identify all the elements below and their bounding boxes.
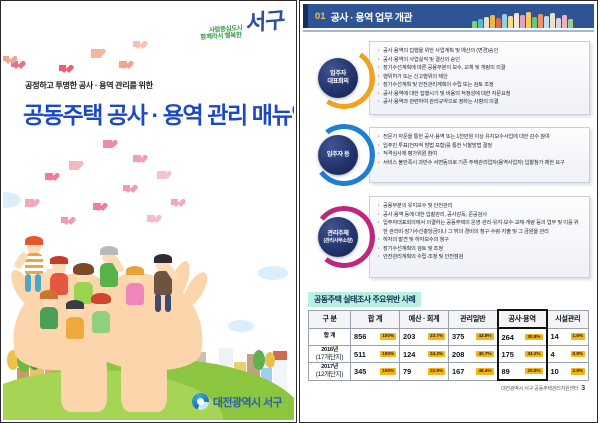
document-spread: 사람중심도시 서구 함께라서 행복한 — [0, 0, 600, 423]
cell-pct: 34.2% — [525, 351, 542, 358]
list-item: 전문가 자문을 통한 공사·용역 또는 1천만원 이상 유지보수사업에 대한 감… — [378, 133, 582, 142]
cover-footer-text: 대전광역시 서구 — [213, 394, 282, 410]
role-badge: 관리주체 (관리사무소장) — [318, 217, 358, 257]
list-item: 서비스 불만족시 과반수 서면동의로 기존 주택관리업자(용역사업자) 입찰참가… — [378, 159, 582, 168]
header-rule — [303, 30, 594, 32]
role-block-gwanlijuche: 관리주체 (관리사무소장) 공용부분의 유지보수 및 안전관리 공사·용역 등에… — [307, 193, 590, 281]
cell-pct: 24.3% — [428, 351, 445, 358]
stats-title: 공동주택 실태조사 주요위반 사례 — [308, 292, 421, 307]
role-item-list: 전문가 자문을 통한 공사·용역 또는 1천만원 이상 유지보수사업에 대한 감… — [378, 133, 582, 167]
list-item: 입주민 투표(전자적 방법 포함)를 통한 낙찰방법 결정 — [378, 142, 582, 151]
role-detail-panel: 공사·용역의 집행을 위한 사업계획 및 예산의 (변경)승인 공사·용역의 사… — [369, 41, 590, 115]
row-label-sub: (12개단지) — [316, 371, 343, 378]
cell-value: 375 — [452, 332, 464, 341]
slide-page: 01 공사 · 용역 업무 개관 — [299, 0, 598, 423]
cell-value: 856 — [354, 332, 366, 341]
badge-wrap: 관리주체 (관리사무소장) — [307, 193, 369, 281]
cover-page: 사람중심도시 서구 함께라서 행복한 — [0, 0, 297, 423]
badge-label-sub: (관리사무소장) — [324, 238, 353, 245]
list-item: 행위허가 또는 신고행위의 제안 — [378, 73, 582, 82]
col-header-total: 합 계 — [351, 310, 400, 328]
slide-content: 01 공사 · 용역 업무 개관 — [303, 4, 594, 419]
cell-pct: 1.6% — [571, 333, 585, 340]
badge-wrap: 입주자 대표회의 — [307, 39, 369, 117]
role-badge: 입주자 대표회의 — [318, 58, 358, 98]
col-header-facility: 시설관리 — [547, 310, 589, 328]
col-header-gubun: 구 분 — [309, 310, 351, 328]
row-label: 합 계 — [309, 333, 350, 340]
cover-footer-logo: 대전광역시 서구 — [192, 393, 282, 410]
cell-value: 14 — [551, 332, 559, 341]
list-item: 장기수선계획에 따른 공용부분의 보수, 교체 및 개량의 의결 — [378, 64, 582, 73]
list-item: 적격심사제 평가위원 참여 — [378, 150, 582, 159]
badge-wrap: 입주자 등 — [307, 124, 369, 186]
cell-pct: 100% — [380, 368, 396, 375]
badge-label-line1: 입주자 등 — [327, 151, 350, 159]
slide-header: 01 공사 · 용역 업무 개관 — [303, 4, 594, 28]
role-item-list: 공용부분의 유지보수 및 안전관리 공사·용역 등에 대한 입찰관리, 공사감독… — [378, 202, 582, 262]
list-item: 안전관리계획의 수립·조정 및 안전점검 — [378, 253, 582, 262]
cell-pct: 100% — [380, 333, 396, 340]
col-header-budget: 예산 · 회계 — [400, 310, 449, 328]
stats-section: 공동주택 실태조사 주요위반 사례 구 분 합 계 예산 · 회계 관리일반 공… — [308, 289, 589, 392]
cell-value: 79 — [403, 367, 411, 376]
cell-value: 124 — [403, 350, 415, 359]
seogu-brand-logo: 사람중심도시 서구 함께라서 행복한 — [180, 11, 284, 55]
cover-title: 공동주택 공사 · 용역 관리 매뉴얼 — [23, 96, 294, 130]
role-detail-panel: 공용부분의 유지보수 및 안전관리 공사·용역 등에 대한 입찰관리, 공사감독… — [369, 196, 590, 278]
table-row: 2017년(12개단지) 345100% 7922.9% 16748.4% 89… — [309, 363, 589, 381]
role-item-list: 공사·용역의 집행을 위한 사업계획 및 예산의 (변경)승인 공사·용역의 사… — [378, 47, 582, 107]
role-block-ijuja-daepyo: 입주자 대표회의 공사·용역의 집행을 위한 사업계획 및 예산의 (변경)승인… — [307, 39, 590, 117]
list-item: 장기수선계획의 검토 및 조정 — [378, 245, 582, 254]
list-item: 공사·용역과 관련하여 관리규약으로 정하는 사항의 의결 — [378, 98, 582, 107]
list-item: 장기수선계획 및 안전관리계획의 수립 또는 검토 조정 — [378, 81, 582, 90]
brand-tagline-second: 함께라서 행복한 — [180, 32, 262, 43]
slide-page-number: 3 — [581, 385, 585, 392]
row-label-sub: (17개단지) — [316, 354, 343, 361]
col-header-construction: 공사·용역 — [498, 310, 547, 328]
cell-pct: 40.7% — [476, 351, 493, 358]
list-item: 공사·용역의 집행을 위한 사업계획 및 예산의 (변경)승인 — [378, 47, 582, 56]
cover-content: 사람중심도시 서구 함께라서 행복한 — [3, 3, 294, 420]
cover-subtitle: 공정하고 투명한 공사 · 용역 관리를 위한 — [25, 79, 153, 91]
cell-value: 345 — [354, 367, 366, 376]
slide-section-number: 01 — [315, 11, 326, 22]
badge-label-line1: 관리주체 — [327, 230, 348, 238]
header-people-graphic — [472, 7, 590, 28]
cell-pct: 0.8% — [571, 351, 585, 358]
list-item: 공용부분의 유지보수 및 안전관리 — [378, 202, 582, 211]
list-item: 공사·용역 등에 대한 입찰관리, 공사감독, 준공검사 — [378, 211, 582, 220]
role-block-ijuja-deung: 입주자 등 전문가 자문을 통한 공사·용역 또는 1천만원 이상 유지보수사업… — [307, 124, 590, 186]
slide-section-title: 공사 · 용역 업무 개관 — [331, 9, 413, 24]
row-label: 2016년 — [309, 347, 350, 354]
cell-pct: 100% — [380, 351, 396, 358]
cell-value: 167 — [452, 367, 464, 376]
brand-name: 서구 — [245, 9, 284, 34]
cell-value: 203 — [403, 332, 415, 341]
cell-value: 208 — [452, 350, 464, 359]
col-header-management: 관리일반 — [449, 310, 498, 328]
row-label: 2017년 — [309, 364, 350, 371]
badge-label-line2: 대표회의 — [327, 78, 348, 86]
cell-pct: 25.8% — [525, 368, 542, 375]
table-header-row: 구 분 합 계 예산 · 회계 관리일반 공사·용역 시설관리 — [309, 310, 589, 328]
list-item: 입주자대표회의에서 의결하는 공동주택의 운영·관리·유지·보수·교체·개량 등… — [378, 219, 582, 236]
cell-value: 89 — [502, 367, 510, 376]
cell-pct: 22.9% — [428, 368, 445, 375]
table-row: 2016년(17개단지) 511100% 12424.3% 20840.7% 1… — [309, 346, 589, 363]
daejeon-seogu-logo-icon — [192, 393, 209, 410]
cover-illustration — [3, 170, 294, 420]
slide-footer-text: 대전광역시 서구 공동주택관리지원센터 — [501, 386, 578, 392]
cell-value: 10 — [551, 367, 559, 376]
cell-value: 264 — [502, 333, 514, 342]
cell-pct: 48.4% — [476, 368, 493, 375]
slide-footer: 대전광역시 서구 공동주택관리지원센터3 — [308, 385, 589, 392]
cell-value: 4 — [551, 350, 555, 359]
role-badge: 입주자 등 — [318, 135, 358, 175]
list-item: 공사·용역에 대한 집행시기 및 비용의 적정성에 대한 자문요청 — [378, 90, 582, 99]
cell-pct: 23.7% — [428, 333, 445, 340]
badge-label-line1: 입주자 — [330, 70, 346, 78]
list-item: 하자의 발견 및 하자보수의 청구 — [378, 236, 582, 245]
cell-pct: 30.8% — [525, 334, 542, 341]
cell-pct: 43.8% — [476, 333, 493, 340]
hands-illustration — [11, 250, 221, 370]
list-item: 공사·용역의 사업실적 및 결산의 승인 — [378, 56, 582, 65]
cell-value: 511 — [354, 350, 366, 359]
violation-stats-table: 구 분 합 계 예산 · 회계 관리일반 공사·용역 시설관리 합 계 8561… — [308, 309, 589, 381]
cell-pct: 2.9% — [571, 368, 585, 375]
cell-value: 175 — [502, 350, 514, 359]
table-row: 합 계 856100% 20323.7% 37543.8% 26430.8% 1… — [309, 328, 589, 346]
role-detail-panel: 전문가 자문을 통한 공사·용역 또는 1천만원 이상 유지보수사업에 대한 감… — [369, 127, 590, 183]
